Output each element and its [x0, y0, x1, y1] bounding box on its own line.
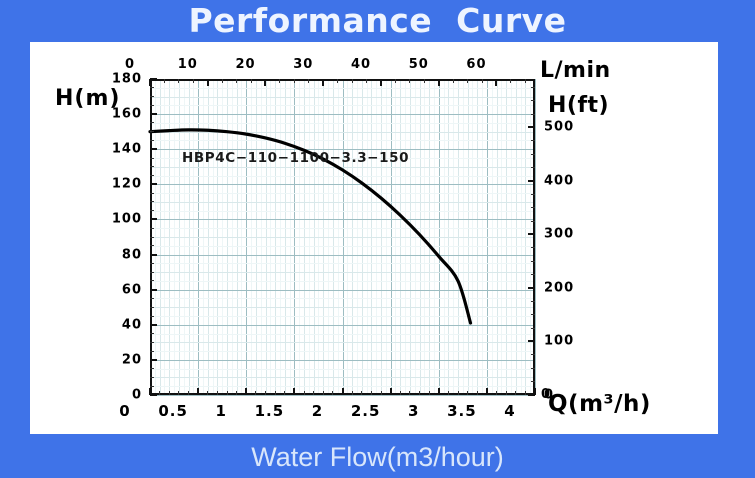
tick-left-minor — [150, 87, 154, 88]
tick-top-minor — [409, 79, 410, 83]
tick-left-minor — [150, 245, 154, 246]
tick-bottom-minor — [458, 391, 459, 395]
tick-bottom-minor — [304, 391, 305, 395]
tick-label-bottom: 3 — [389, 402, 439, 420]
grid-major-h — [150, 395, 535, 396]
tick-label-right: 300 — [544, 227, 604, 242]
tick-left-minor — [150, 280, 154, 281]
tick-label-right: 100 — [544, 334, 604, 349]
tick-bottom-major — [245, 388, 247, 395]
tick-top-minor — [424, 79, 425, 83]
tick-label-left: 140 — [90, 142, 142, 157]
tick-top-minor — [222, 79, 223, 83]
tick-left-minor — [150, 272, 154, 273]
axis-title-left: H(m) — [55, 86, 120, 111]
tick-top-major — [380, 79, 382, 86]
tick-label-bottom: 1.5 — [244, 402, 294, 420]
tick-bottom-minor — [169, 391, 170, 395]
tick-left-minor — [150, 131, 154, 132]
tick-bottom-minor — [400, 391, 401, 395]
tick-left-minor — [150, 122, 154, 123]
tick-top-major — [322, 79, 324, 86]
tick-bottom-minor — [506, 391, 507, 395]
tick-right-major — [528, 233, 535, 235]
tick-label-left: 40 — [90, 317, 142, 332]
tick-bottom-minor — [188, 391, 189, 395]
tick-label-bottom: 2 — [293, 402, 343, 420]
tick-left-major — [150, 113, 157, 115]
tick-left-minor — [150, 158, 154, 159]
tick-bottom-minor — [275, 391, 276, 395]
tick-bottom-minor — [381, 391, 382, 395]
tick-right-minor — [531, 328, 535, 329]
tick-right-minor — [531, 87, 535, 88]
tick-left-major — [150, 148, 157, 150]
tick-bottom-minor — [361, 391, 362, 395]
tick-label-top: 50 — [399, 57, 439, 72]
tick-top-minor — [525, 79, 526, 83]
plot-area — [150, 79, 535, 395]
tick-bottom-minor — [409, 391, 410, 395]
axis-title-bottom: Q(m³/h) — [548, 391, 651, 417]
tick-bottom-minor — [313, 391, 314, 395]
tick-right-major — [528, 180, 535, 182]
tick-left-major — [150, 359, 157, 361]
tick-label-right: 200 — [544, 280, 604, 295]
tick-bottom-minor — [477, 391, 478, 395]
tick-bottom-minor — [429, 391, 430, 395]
tick-label-left: 80 — [90, 247, 142, 262]
tick-right-minor — [531, 114, 535, 115]
tick-right-minor — [531, 354, 535, 355]
tick-left-minor — [150, 201, 154, 202]
tick-left-minor — [150, 307, 154, 308]
tick-top-minor — [352, 79, 353, 83]
tick-top-minor — [482, 79, 483, 83]
tick-left-minor — [150, 175, 154, 176]
tick-left-major — [150, 289, 157, 291]
tick-bottom-minor — [159, 391, 160, 395]
tick-left-minor — [150, 263, 154, 264]
tick-label-top: 10 — [168, 57, 208, 72]
tick-label-left: 120 — [90, 177, 142, 192]
tick-bottom-major — [390, 388, 392, 395]
tick-top-minor — [366, 79, 367, 83]
tick-top-minor — [164, 79, 165, 83]
tick-left-major — [150, 394, 157, 396]
tick-bottom-minor — [419, 391, 420, 395]
tick-right-major — [528, 340, 535, 342]
tick-bottom-minor — [352, 391, 353, 395]
tick-bottom-major — [197, 388, 199, 395]
axis-title-top: L/min — [540, 58, 611, 83]
tick-bottom-major — [342, 388, 344, 395]
tick-top-minor — [279, 79, 280, 83]
tick-bottom-minor — [467, 391, 468, 395]
tick-left-minor — [150, 228, 154, 229]
tick-label-bottom: 3.5 — [437, 402, 487, 420]
tick-label-bottom: 2.5 — [341, 402, 391, 420]
tick-right-minor — [531, 261, 535, 262]
tick-top-minor — [178, 79, 179, 83]
tick-top-minor — [294, 79, 295, 83]
tick-bottom-minor — [178, 391, 179, 395]
tick-top-major — [495, 79, 497, 86]
tick-bottom-major — [438, 388, 440, 395]
tick-label-bottom: 4 — [485, 402, 535, 420]
tick-right-minor — [531, 247, 535, 248]
page-title: Performance Curve — [0, 0, 755, 43]
tick-label-right: 400 — [544, 173, 604, 188]
tick-label-top: 20 — [225, 57, 265, 72]
curve-annotation-label: HBP4C−110−1100−3.3−150 — [182, 150, 409, 166]
tick-right-minor — [531, 154, 535, 155]
tick-bottom-minor — [371, 391, 372, 395]
tick-bottom-minor — [217, 391, 218, 395]
tick-left-major — [150, 78, 157, 80]
tick-top-major — [149, 79, 151, 86]
tick-left-minor — [150, 237, 154, 238]
tick-left-major — [150, 324, 157, 326]
tick-left-minor — [150, 96, 154, 97]
tick-left-minor — [150, 351, 154, 352]
tick-bottom-minor — [236, 391, 237, 395]
tick-right-major — [528, 287, 535, 289]
tick-label-bottom: 0 — [100, 402, 150, 420]
tick-bottom-minor — [496, 391, 497, 395]
tick-right-minor — [531, 194, 535, 195]
tick-left-minor — [150, 298, 154, 299]
tick-left-major — [150, 183, 157, 185]
tick-right-minor — [531, 368, 535, 369]
tick-left-minor — [150, 193, 154, 194]
tick-bottom-major — [293, 388, 295, 395]
grid-major-v — [535, 79, 536, 395]
tick-right-minor — [531, 100, 535, 101]
tick-bottom-major — [149, 388, 151, 395]
tick-left-minor — [150, 342, 154, 343]
tick-right-minor — [531, 221, 535, 222]
tick-bottom-minor — [525, 391, 526, 395]
tick-top-minor — [510, 79, 511, 83]
tick-top-minor — [251, 79, 252, 83]
tick-top-minor — [467, 79, 468, 83]
tick-bottom-minor — [515, 391, 516, 395]
tick-top-minor — [236, 79, 237, 83]
tick-top-major — [438, 79, 440, 86]
tick-label-left: 20 — [90, 352, 142, 367]
tick-left-minor — [150, 105, 154, 106]
axis-title-right: H(ft) — [548, 93, 609, 118]
tick-right-minor — [531, 167, 535, 168]
tick-left-minor — [150, 333, 154, 334]
tick-top-minor — [193, 79, 194, 83]
tick-label-top: 0 — [110, 57, 150, 72]
tick-bottom-minor — [332, 391, 333, 395]
tick-top-minor — [337, 79, 338, 83]
tick-right-minor — [531, 140, 535, 141]
tick-top-major — [207, 79, 209, 86]
tick-label-right: 500 — [544, 120, 604, 135]
tick-right-minor — [531, 314, 535, 315]
tick-top-major — [264, 79, 266, 86]
performance-curve — [150, 79, 535, 395]
tick-right-minor — [531, 274, 535, 275]
tick-right-minor — [531, 207, 535, 208]
tick-label-bottom: 1 — [196, 402, 246, 420]
tick-left-minor — [150, 386, 154, 387]
tick-left-minor — [150, 377, 154, 378]
tick-top-minor — [395, 79, 396, 83]
tick-bottom-minor — [284, 391, 285, 395]
tick-left-major — [150, 218, 157, 220]
tick-label-top: 30 — [283, 57, 323, 72]
tick-label-left: 100 — [90, 212, 142, 227]
chart-caption: Water Flow(m3/hour) — [0, 437, 755, 478]
tick-right-minor — [531, 381, 535, 382]
tick-bottom-major — [534, 388, 536, 395]
tick-left-minor — [150, 140, 154, 141]
tick-bottom-minor — [448, 391, 449, 395]
tick-left-minor — [150, 210, 154, 211]
tick-label-bottom: 0.5 — [148, 402, 198, 420]
tick-label-left: 0 — [90, 388, 142, 403]
tick-right-major — [528, 126, 535, 128]
tick-label-left: 60 — [90, 282, 142, 297]
tick-bottom-minor — [255, 391, 256, 395]
tick-right-minor — [531, 301, 535, 302]
tick-left-minor — [150, 316, 154, 317]
tick-bottom-minor — [265, 391, 266, 395]
tick-bottom-minor — [207, 391, 208, 395]
tick-label-left: 180 — [90, 72, 142, 87]
tick-top-minor — [453, 79, 454, 83]
screenshot-root: Performance Curve 0204060801001201401601… — [0, 0, 755, 478]
tick-top-minor — [308, 79, 309, 83]
tick-left-minor — [150, 368, 154, 369]
tick-label-top: 40 — [341, 57, 381, 72]
tick-left-major — [150, 254, 157, 256]
tick-bottom-minor — [323, 391, 324, 395]
tick-label-top: 60 — [456, 57, 496, 72]
tick-bottom-minor — [227, 391, 228, 395]
tick-bottom-major — [486, 388, 488, 395]
tick-left-minor — [150, 166, 154, 167]
